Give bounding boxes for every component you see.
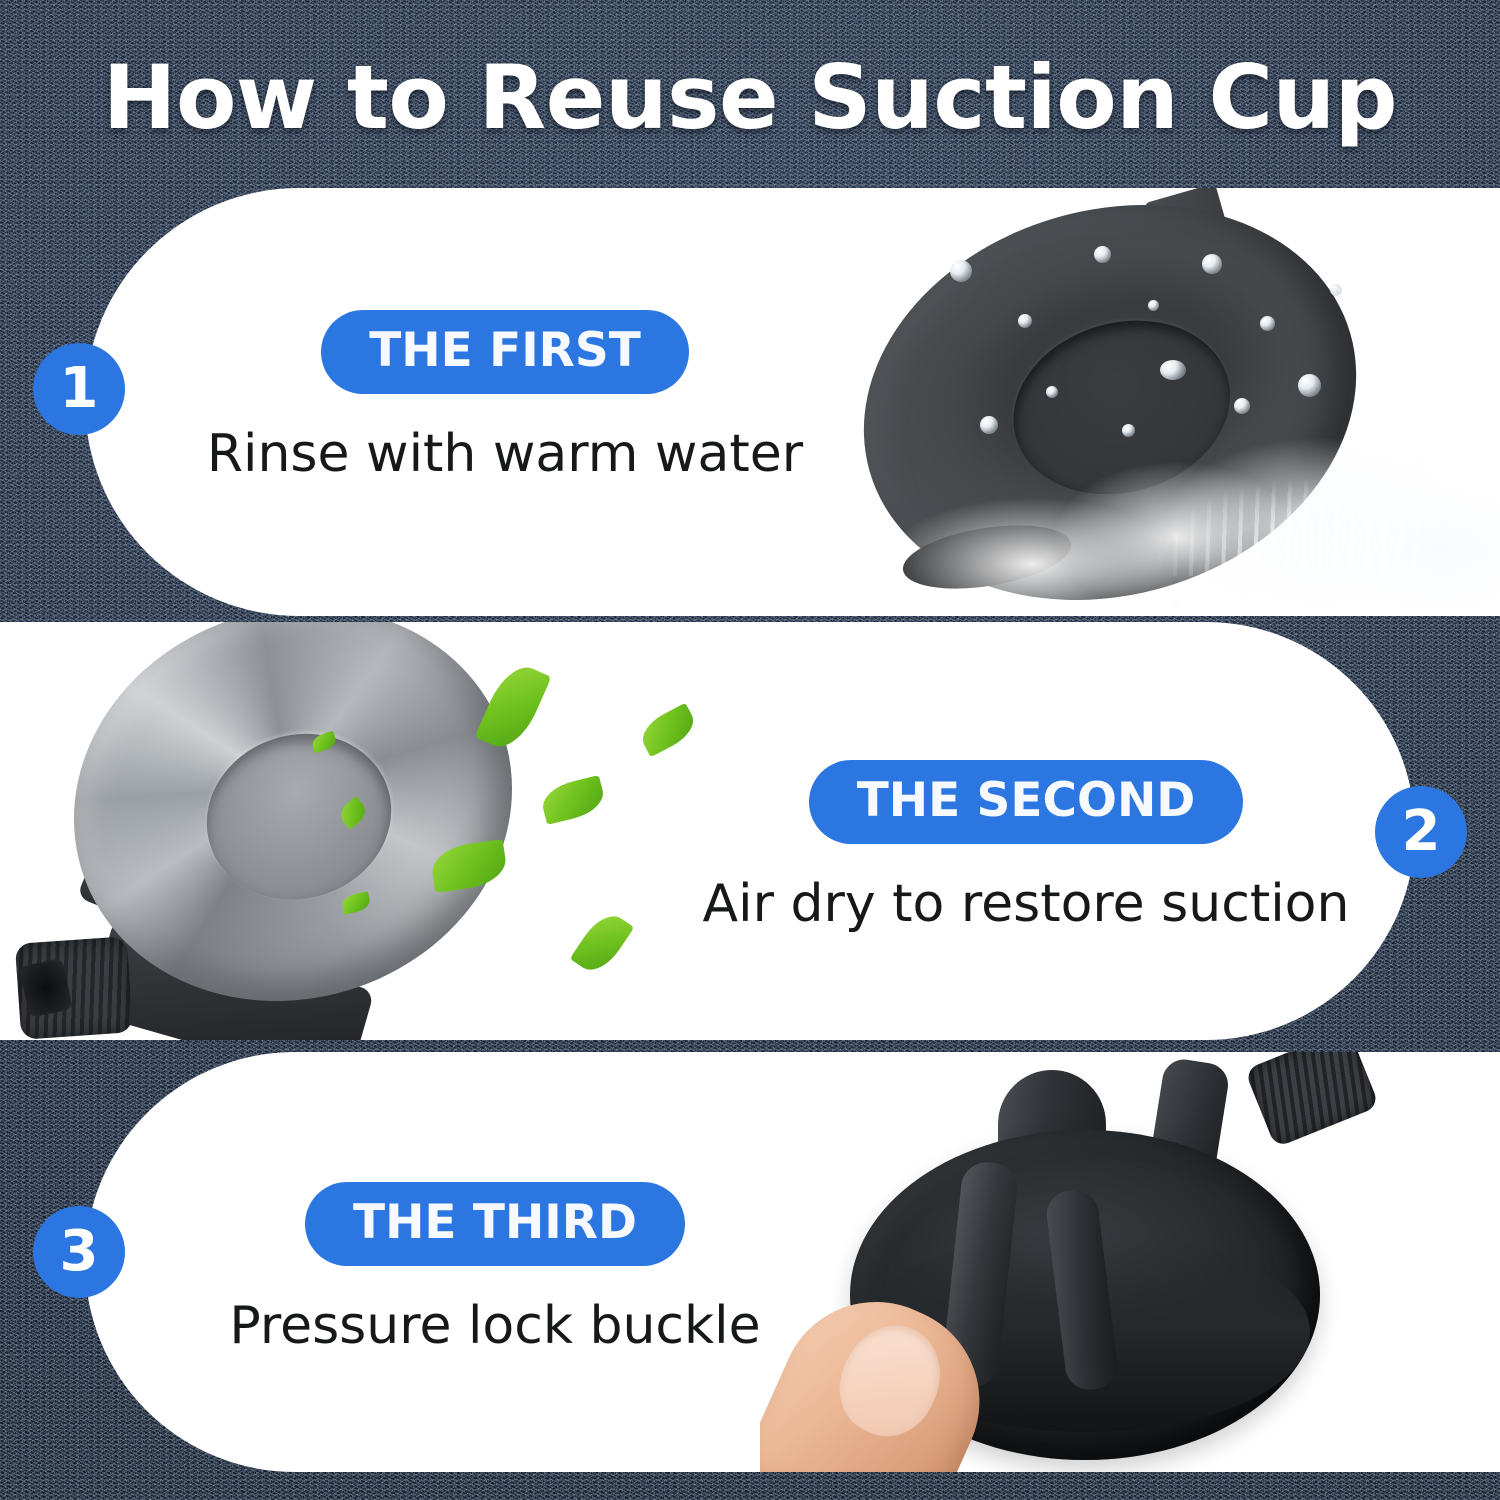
water-droplet bbox=[1298, 374, 1321, 397]
step-2-pill-label: THE SECOND bbox=[809, 760, 1244, 844]
leaf-icon bbox=[636, 703, 700, 758]
step-1-caption: Rinse with warm water bbox=[195, 424, 815, 484]
step-2-caption: Air dry to restore suction bbox=[690, 874, 1362, 934]
water-droplet bbox=[1122, 424, 1135, 437]
water-droplet bbox=[980, 416, 998, 434]
step-badge-3: 3 bbox=[33, 1206, 125, 1298]
step-badge-2: 2 bbox=[1375, 786, 1467, 878]
tightening-knob bbox=[1244, 1052, 1379, 1148]
water-droplet bbox=[1330, 284, 1342, 296]
water-droplet bbox=[1260, 316, 1275, 331]
step-3-pill-label: THE THIRD bbox=[305, 1182, 685, 1266]
water-droplet bbox=[1094, 246, 1111, 263]
step-panel-1: THE FIRST Rinse with warm water bbox=[85, 188, 1500, 616]
step-1-textblock: THE FIRST Rinse with warm water bbox=[195, 310, 815, 484]
water-crown-splash bbox=[1130, 426, 1490, 576]
tightening-knob bbox=[15, 936, 133, 1040]
leaf-icon bbox=[539, 775, 608, 825]
step-3-caption: Pressure lock buckle bbox=[185, 1296, 805, 1356]
water-droplet bbox=[950, 260, 972, 282]
step-panel-3: THE THIRD Pressure lock buckle bbox=[85, 1052, 1500, 1472]
step-2-textblock: THE SECOND Air dry to restore suction bbox=[690, 760, 1362, 934]
water-droplet bbox=[1148, 300, 1159, 311]
step-1-photo bbox=[830, 188, 1500, 616]
step-badge-1: 1 bbox=[33, 343, 125, 435]
step-2-photo bbox=[0, 622, 700, 1040]
water-droplet bbox=[1202, 254, 1222, 274]
step-3-textblock: THE THIRD Pressure lock buckle bbox=[185, 1182, 805, 1356]
water-droplet bbox=[1160, 360, 1186, 380]
infographic-poster: How to Reuse Suction Cup THE FIRST Rin bbox=[0, 0, 1500, 1500]
water-droplet bbox=[1018, 314, 1032, 328]
leaf-icon bbox=[570, 907, 635, 979]
step-panel-2: THE SECOND Air dry to restore suction bbox=[0, 622, 1415, 1040]
step-3-photo bbox=[760, 1052, 1500, 1472]
water-droplet bbox=[1234, 398, 1250, 414]
page-title: How to Reuse Suction Cup bbox=[0, 46, 1500, 150]
step-1-pill-label: THE FIRST bbox=[321, 310, 689, 394]
water-droplet bbox=[1046, 386, 1058, 398]
